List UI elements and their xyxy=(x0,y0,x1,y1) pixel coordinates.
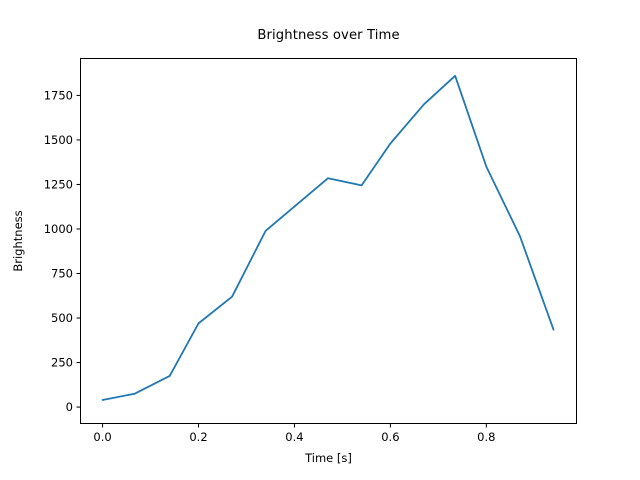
x-tick-label: 0.6 xyxy=(381,430,399,444)
data-line-brightness xyxy=(103,76,554,400)
y-tick-label: 1250 xyxy=(44,177,73,191)
axes-frame xyxy=(81,59,577,424)
x-tick-label: 0.0 xyxy=(93,430,111,444)
y-axis-label: Brightness xyxy=(11,210,25,271)
y-axis-ticks: 02505007501000125015001750 xyxy=(44,88,80,414)
x-tick-label: 0.4 xyxy=(285,430,303,444)
y-tick-label: 1750 xyxy=(44,88,73,102)
x-tick-label: 0.2 xyxy=(189,430,207,444)
y-tick-label: 0 xyxy=(66,400,73,414)
y-tick-label: 500 xyxy=(51,311,73,325)
y-tick-label: 250 xyxy=(51,356,73,370)
x-axis-label: Time [s] xyxy=(304,451,352,465)
matplotlib-figure: Brightness over Time 0.00.20.40.60.8 025… xyxy=(0,0,640,480)
y-tick-label: 750 xyxy=(51,267,73,281)
y-tick-label: 1500 xyxy=(44,133,73,147)
y-tick-label: 1000 xyxy=(44,222,73,236)
x-tick-label: 0.8 xyxy=(477,430,495,444)
x-axis-ticks: 0.00.20.40.60.8 xyxy=(93,424,495,444)
plot-area: 0.00.20.40.60.8 025050075010001250150017… xyxy=(0,0,640,480)
